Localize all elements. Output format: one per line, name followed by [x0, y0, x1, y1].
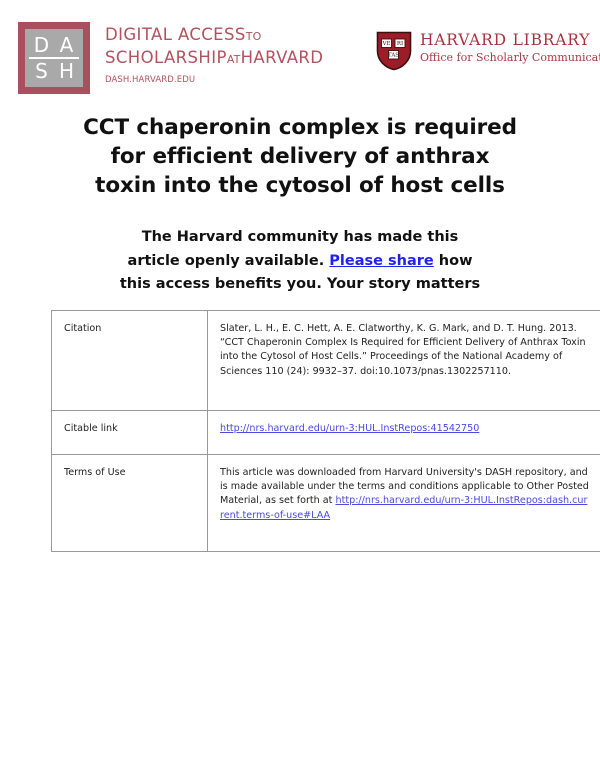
dash-logo-mark: D A S H: [18, 22, 90, 94]
dash-wordmark-at: AT: [227, 53, 241, 66]
share-line1: The Harvard community has made this: [0, 226, 600, 250]
citable-link-label: Citable link: [52, 411, 208, 455]
page-title-line2: for efficient delivery of anthrax: [0, 142, 600, 171]
dash-letter-s: S: [29, 61, 54, 81]
share-line2-prefix: article openly available.: [128, 253, 330, 269]
metadata-table: Citation Slater, L. H., E. C. Hett, A. E…: [51, 310, 600, 552]
dash-wordmark-line2: SCHOLARSHIPATHARVARD: [105, 47, 323, 70]
dash-wordmark-scholarship: SCHOLARSHIP: [105, 48, 227, 67]
dash-letter-h: H: [54, 61, 79, 81]
citable-link-url[interactable]: http://nrs.harvard.edu/urn-3:HUL.InstRep…: [220, 423, 479, 434]
dash-wordmark-line1: DIGITAL ACCESSTO: [105, 24, 323, 47]
svg-text:TAS: TAS: [388, 53, 399, 59]
citation-value: Slater, L. H., E. C. Hett, A. E. Clatwor…: [208, 311, 600, 411]
table-row-citable-link: Citable link http://nrs.harvard.edu/urn-…: [52, 411, 600, 455]
share-line2: article openly available. Please share h…: [0, 250, 600, 274]
svg-text:VE: VE: [382, 41, 391, 47]
svg-text:RI: RI: [397, 41, 403, 47]
harvard-shield-icon: VE RI TAS: [376, 31, 412, 71]
citable-link-value: http://nrs.harvard.edu/urn-3:HUL.InstRep…: [208, 411, 600, 455]
terms-of-use-value: This article was downloaded from Harvard…: [208, 455, 600, 552]
dash-letter-a: A: [54, 35, 79, 55]
terms-of-use-label: Terms of Use: [52, 455, 208, 552]
share-line3: this access benefits you. Your story mat…: [0, 273, 600, 297]
citation-label: Citation: [52, 311, 208, 411]
dash-wordmark-url: DASH.HARVARD.EDU: [105, 75, 323, 85]
dash-wordmark-digital-access: DIGITAL ACCESS: [105, 25, 246, 44]
dash-wordmark-to: TO: [246, 30, 262, 43]
page-title-line1: CCT chaperonin complex is required: [0, 113, 600, 142]
harvard-library-title: HARVARD LIBRARY: [420, 31, 600, 50]
dash-letter-d: D: [29, 35, 54, 55]
share-line2-suffix: how: [434, 253, 473, 269]
dash-logo-row-top: D A: [29, 33, 79, 59]
dash-logo-row-bottom: S H: [29, 59, 79, 83]
table-row-citation: Citation Slater, L. H., E. C. Hett, A. E…: [52, 311, 600, 411]
harvard-library-subtitle: Office for Scholarly Communication: [420, 50, 600, 65]
dash-wordmark: DIGITAL ACCESSTO SCHOLARSHIPATHARVARD DA…: [105, 24, 323, 85]
page-title: CCT chaperonin complex is required for e…: [0, 113, 600, 200]
please-share-link[interactable]: Please share: [329, 253, 433, 269]
page-title-line3: toxin into the cytosol of host cells: [0, 171, 600, 200]
dash-wordmark-harvard: HARVARD: [241, 48, 324, 67]
dash-logo-grid: D A S H: [29, 33, 79, 83]
community-share-callout: The Harvard community has made this arti…: [0, 226, 600, 297]
table-row-terms-of-use: Terms of Use This article was downloaded…: [52, 455, 600, 552]
page-header: D A S H DIGITAL ACCESSTO SCHOLARSHIPATHA…: [0, 0, 600, 110]
harvard-library-logo: VE RI TAS HARVARD LIBRARY Office for Sch…: [376, 29, 591, 79]
harvard-library-wordmark: HARVARD LIBRARY Office for Scholarly Com…: [420, 31, 600, 65]
